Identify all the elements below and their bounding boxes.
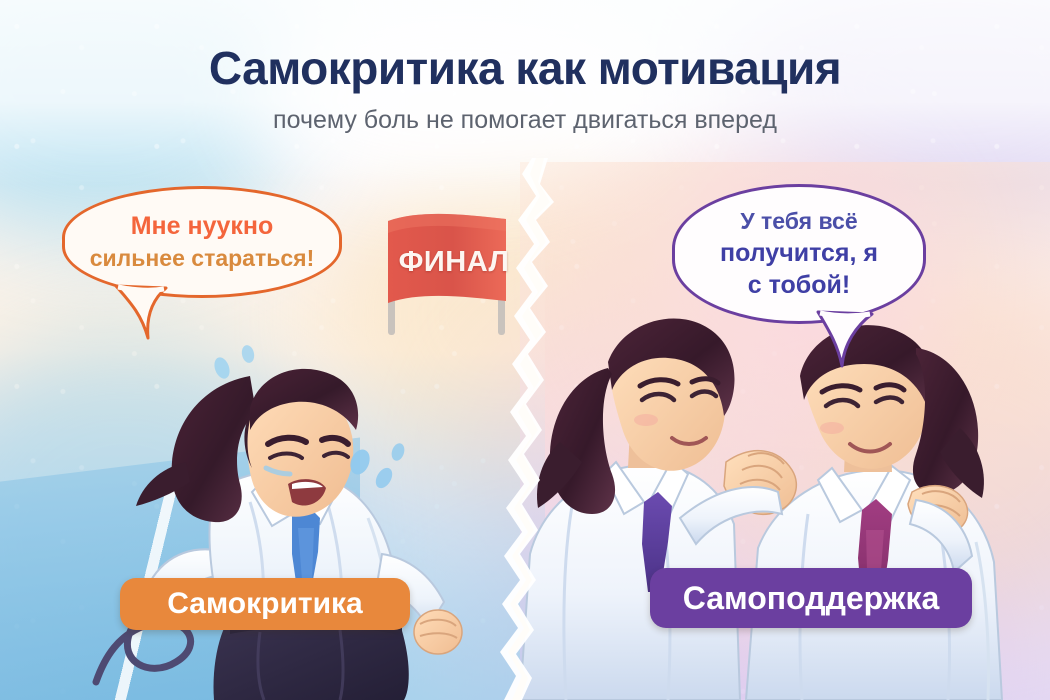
label-pill-self-support-text: Самоподдержка — [683, 580, 940, 617]
page-subtitle: почему боль не помогает двигаться вперед — [0, 106, 1050, 135]
page-title: Самокритика как мотивация — [0, 44, 1050, 92]
finish-flag-label: ФИНАЛ — [384, 246, 524, 279]
speech-bubble-self-support: У тебя всё получится, я с тобой! — [672, 184, 926, 324]
speech-bubble-self-criticism: Мне нуукно сильнее стараться! — [62, 186, 342, 298]
speech-bubble-left-line2: сильнее стараться! — [90, 245, 315, 273]
speech-bubble-right-line2: получится, я — [720, 238, 878, 268]
speech-bubble-right-line1: У тебя всё — [740, 208, 857, 236]
speech-bubble-left-body: Мне нуукно сильнее стараться! — [62, 186, 342, 298]
heading-block: Самокритика как мотивация почему боль не… — [0, 0, 1050, 135]
speech-bubble-right-line3: с тобой! — [748, 270, 850, 300]
speech-bubble-left-tail — [108, 282, 198, 342]
speech-bubble-right-tail — [808, 306, 898, 368]
label-pill-self-support[interactable]: Самоподдержка — [650, 568, 972, 628]
label-pill-self-criticism-text: Самокритика — [167, 587, 362, 621]
label-pill-self-criticism[interactable]: Самокритика — [120, 578, 410, 630]
poster-canvas: ФИНАЛ Самокритика как мотивация почему б… — [0, 0, 1050, 700]
speech-bubble-right-body: У тебя всё получится, я с тобой! — [672, 184, 926, 324]
speech-bubble-left-line1: Мне нуукно — [131, 211, 274, 241]
